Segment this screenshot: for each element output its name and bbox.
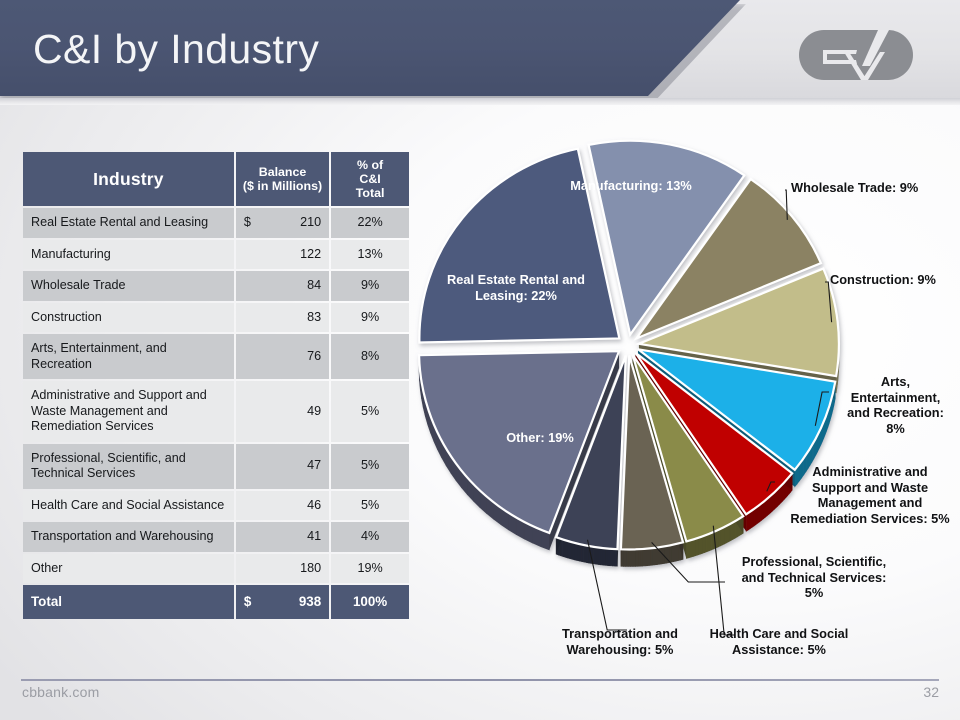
header-banner: C&I by Industry <box>0 0 960 104</box>
pie-slice-side <box>593 547 595 564</box>
table-row: Health Care and Social Assistance465% <box>23 491 409 521</box>
arts-line4: 8% <box>886 421 905 436</box>
table-row: Arts, Entertainment, and Recreation768% <box>23 334 409 379</box>
pie-slice-side <box>686 541 688 559</box>
admin-line4: Remediation Services: 5% <box>790 511 949 526</box>
cell-balance: 83 <box>236 303 329 333</box>
pie-slice-side <box>725 526 727 544</box>
pie-slice-side <box>705 535 707 553</box>
prof-line2: and Technical Services: <box>742 570 887 585</box>
table-row: Real Estate Rental and Leasing$21022% <box>23 208 409 238</box>
cell-total-percent: 100% <box>331 585 409 619</box>
slice-label-health-care: Health Care and Social Assistance: 5% <box>690 626 868 657</box>
pie-slice-side <box>638 549 640 566</box>
table-row: Professional, Scientific, and Technical … <box>23 444 409 489</box>
pie-slice-side <box>722 527 724 545</box>
pie-slice-side <box>652 548 654 565</box>
arts-line2: Entertainment, <box>851 390 941 405</box>
health-line1: Health Care and Social <box>710 626 849 641</box>
cell-industry-name: Arts, Entertainment, and Recreation <box>23 334 234 379</box>
pie-slice-side <box>605 548 607 565</box>
pie-chart: Real Estate Rental and Leasing: 22% Othe… <box>405 130 960 675</box>
cvb-logo <box>799 30 913 80</box>
pie-slice-side <box>582 545 584 563</box>
slice-label-real-estate-line1: Real Estate Rental and <box>447 272 585 287</box>
health-line2: Assistance: 5% <box>732 642 826 657</box>
page-title: C&I by Industry <box>33 25 319 73</box>
cell-total-label: Total <box>23 585 234 619</box>
pie-slice-side <box>655 548 657 565</box>
pie-slice-side <box>596 547 598 564</box>
prof-line1: Professional, Scientific, <box>742 554 886 569</box>
pie-slice-side <box>645 549 647 566</box>
pie-slice-side <box>698 537 700 555</box>
column-header-industry: Industry <box>23 152 234 206</box>
table-row: Wholesale Trade849% <box>23 271 409 301</box>
pie-slice-side <box>577 543 579 561</box>
cell-percent: 9% <box>331 303 409 333</box>
admin-line2: Support and Waste <box>812 480 928 495</box>
cell-balance: 49 <box>236 381 329 442</box>
pie-slice-side <box>676 544 678 562</box>
pie-slice-side <box>659 547 661 564</box>
cell-percent: 22% <box>331 208 409 238</box>
table-total-row: Total$938100% <box>23 585 409 619</box>
cell-percent: 8% <box>331 334 409 379</box>
pie-slice-side <box>711 532 713 550</box>
pie-slice-side <box>647 548 649 565</box>
pie-slice-side <box>702 536 704 554</box>
cell-percent: 9% <box>331 271 409 301</box>
cell-industry-name: Transportation and Warehousing <box>23 522 234 552</box>
cell-percent: 13% <box>331 240 409 270</box>
slide-canvas: C&I by Industry Industry Balance ($ in M… <box>0 0 960 720</box>
transport-line1: Transportation and <box>562 626 678 641</box>
pie-slice-side <box>568 541 570 559</box>
pie-slice-side <box>563 540 565 558</box>
cell-balance: 76 <box>236 334 329 379</box>
cell-industry-name: Manufacturing <box>23 240 234 270</box>
header-underline <box>0 98 960 105</box>
pie-slice-side <box>693 539 695 557</box>
admin-line1: Administrative and <box>812 464 927 479</box>
percent-label-line3: Total <box>356 186 385 200</box>
cell-balance: 84 <box>236 271 329 301</box>
table-row: Construction839% <box>23 303 409 333</box>
cell-balance: 46 <box>236 491 329 521</box>
percent-label-line2: C&I <box>359 172 380 186</box>
pie-slice-side <box>664 546 666 563</box>
pie-slice-side <box>720 528 722 546</box>
pie-slice-side <box>718 529 720 547</box>
cell-industry-name: Professional, Scientific, and Technical … <box>23 444 234 489</box>
pie-slice-side <box>650 548 652 565</box>
pie-slice-side <box>631 549 633 566</box>
pie-slice-side <box>691 539 693 557</box>
footer-divider <box>21 679 939 681</box>
pie-slice-side <box>626 549 628 566</box>
arts-line3: and Recreation: <box>847 405 944 420</box>
pie-slice-side <box>729 524 731 542</box>
pie-slice-side <box>561 539 563 557</box>
transport-line2: Warehousing: 5% <box>567 642 674 657</box>
pie-slice-side <box>727 525 729 543</box>
pie-slice-side <box>700 536 702 554</box>
table-row: Administrative and Support and Waste Man… <box>23 381 409 442</box>
pie-slice-side <box>635 549 637 566</box>
slice-label-professional: Professional, Scientific, and Technical … <box>725 554 903 601</box>
slice-label-other: Other: 19% <box>465 430 615 446</box>
pie-slice-side <box>716 530 718 548</box>
cell-percent: 4% <box>331 522 409 552</box>
pie-slice-side <box>572 542 574 560</box>
table-header-row: Industry Balance ($ in Millions) % of C&… <box>23 152 409 206</box>
pie-slice-side <box>633 549 635 566</box>
cell-balance: 47 <box>236 444 329 489</box>
pie-slice-side <box>640 549 642 566</box>
slice-label-real-estate-line2: Leasing: 22% <box>475 288 557 303</box>
pie-slice-side <box>603 548 605 565</box>
cell-industry-name: Health Care and Social Assistance <box>23 491 234 521</box>
pie-slice-side <box>575 543 577 561</box>
pie-slice-side <box>746 513 748 531</box>
cell-industry-name: Construction <box>23 303 234 333</box>
column-header-balance: Balance ($ in Millions) <box>236 152 329 206</box>
slice-label-construction: Construction: 9% <box>830 272 960 288</box>
pie-slice-side <box>674 544 676 562</box>
currency-symbol: $ <box>244 594 251 610</box>
pie-slice-side <box>696 538 698 556</box>
cell-percent: 19% <box>331 554 409 584</box>
footer-page-number: 32 <box>905 684 939 700</box>
pie-slice-side <box>623 549 625 566</box>
pie-slice-side <box>643 549 645 566</box>
cell-industry-name: Real Estate Rental and Leasing <box>23 208 234 238</box>
slice-label-arts: Arts, Entertainment, and Recreation: 8% <box>833 374 958 436</box>
cell-industry-name: Other <box>23 554 234 584</box>
table-row: Other18019% <box>23 554 409 584</box>
cell-percent: 5% <box>331 381 409 442</box>
slice-label-transportation: Transportation and Warehousing: 5% <box>540 626 700 657</box>
slice-label-wholesale-trade: Wholesale Trade: 9% <box>791 180 956 196</box>
table-body: Real Estate Rental and Leasing$21022%Man… <box>23 208 409 619</box>
cell-industry-name: Wholesale Trade <box>23 271 234 301</box>
pie-slice-side <box>707 534 709 552</box>
percent-label-line1: % of <box>357 158 383 172</box>
cell-total-balance: $938 <box>236 585 329 619</box>
pie-slice-side <box>601 548 603 565</box>
slice-label-real-estate: Real Estate Rental and Leasing: 22% <box>421 272 611 303</box>
pie-slice-side <box>733 521 735 539</box>
column-header-percent: % of C&I Total <box>331 152 409 206</box>
table-row: Manufacturing12213% <box>23 240 409 270</box>
cell-balance: 180 <box>236 554 329 584</box>
cell-balance: $210 <box>236 208 329 238</box>
pie-slice-side <box>671 545 673 563</box>
pie-slice-side <box>669 545 671 562</box>
admin-line3: Management and <box>818 495 923 510</box>
cell-percent: 5% <box>331 491 409 521</box>
pie-slice-side <box>689 540 691 558</box>
balance-label-line1: Balance <box>259 165 307 179</box>
currency-symbol: $ <box>244 215 251 231</box>
table-row: Transportation and Warehousing414% <box>23 522 409 552</box>
footer-website: cbbank.com <box>22 684 99 700</box>
pie-slice-side <box>579 544 581 562</box>
cell-balance: 122 <box>236 240 329 270</box>
prof-line3: 5% <box>805 585 824 600</box>
pie-slice-side <box>628 549 630 566</box>
slice-label-administrative: Administrative and Support and Waste Man… <box>780 464 960 526</box>
cell-industry-name: Administrative and Support and Waste Man… <box>23 381 234 442</box>
pie-slice-side <box>613 549 615 566</box>
pie-slice-side <box>615 549 617 566</box>
slice-label-manufacturing: Manufacturing: 13% <box>551 178 711 194</box>
pie-slice-side <box>608 549 610 566</box>
industry-table: Industry Balance ($ in Millions) % of C&… <box>21 150 411 621</box>
cell-percent: 5% <box>331 444 409 489</box>
pie-slice-side <box>598 547 600 564</box>
pie-slice-side <box>731 522 733 540</box>
balance-label-line2: ($ in Millions) <box>243 179 322 193</box>
arts-line1: Arts, <box>881 374 910 389</box>
pie-slice-side <box>565 540 567 558</box>
pie-slice-side <box>586 546 588 563</box>
pie-slice-side <box>570 542 572 560</box>
pie-slice-side <box>709 533 711 551</box>
pie-slice-side <box>610 549 612 566</box>
cell-balance: 41 <box>236 522 329 552</box>
pie-slice-side <box>584 545 586 562</box>
